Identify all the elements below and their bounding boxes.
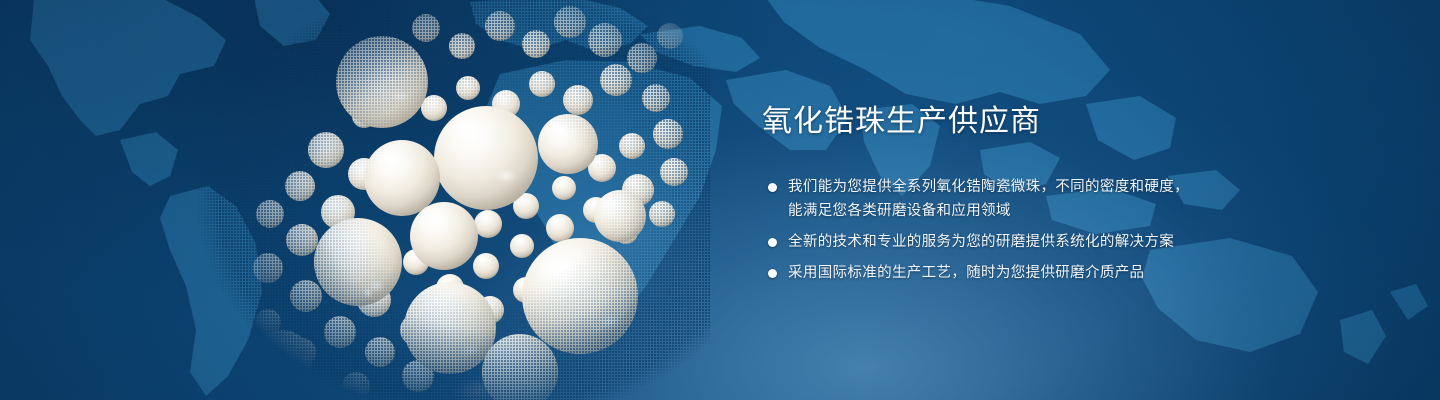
bullet-dot-icon <box>768 269 777 278</box>
bullet-item-3: 采用国际标准的生产工艺，随时为您提供研磨介质产品 <box>762 261 1282 285</box>
bullet-dot-icon <box>768 238 777 247</box>
bullet-item-3-line-1: 采用国际标准的生产工艺，随时为您提供研磨介质产品 <box>788 261 1282 285</box>
banner-bullet-list: 我们能为您提供全系列氧化锆陶瓷微珠，不同的密度和硬度， 能满足您各类研磨设备和应… <box>762 175 1282 285</box>
bullet-item-2: 全新的技术和专业的服务为您的研磨提供系统化的解决方案 <box>762 230 1282 254</box>
bullet-dot-icon <box>768 183 777 192</box>
promo-banner: 氧化锆珠生产供应商 我们能为您提供全系列氧化锆陶瓷微珠，不同的密度和硬度， 能满… <box>0 0 1440 400</box>
bullet-item-1-line-1: 我们能为您提供全系列氧化锆陶瓷微珠，不同的密度和硬度， <box>788 175 1282 199</box>
bullet-item-1-line-2: 能满足您各类研磨设备和应用领域 <box>788 199 1282 223</box>
zirconia-ceramic-beads-photo <box>150 0 710 400</box>
bullet-item-2-line-1: 全新的技术和专业的服务为您的研磨提供系统化的解决方案 <box>788 230 1282 254</box>
banner-headline: 氧化锆珠生产供应商 <box>762 104 1282 139</box>
bullet-item-1: 我们能为您提供全系列氧化锆陶瓷微珠，不同的密度和硬度， 能满足您各类研磨设备和应… <box>762 175 1282 223</box>
banner-copy-block: 氧化锆珠生产供应商 我们能为您提供全系列氧化锆陶瓷微珠，不同的密度和硬度， 能满… <box>762 104 1282 285</box>
